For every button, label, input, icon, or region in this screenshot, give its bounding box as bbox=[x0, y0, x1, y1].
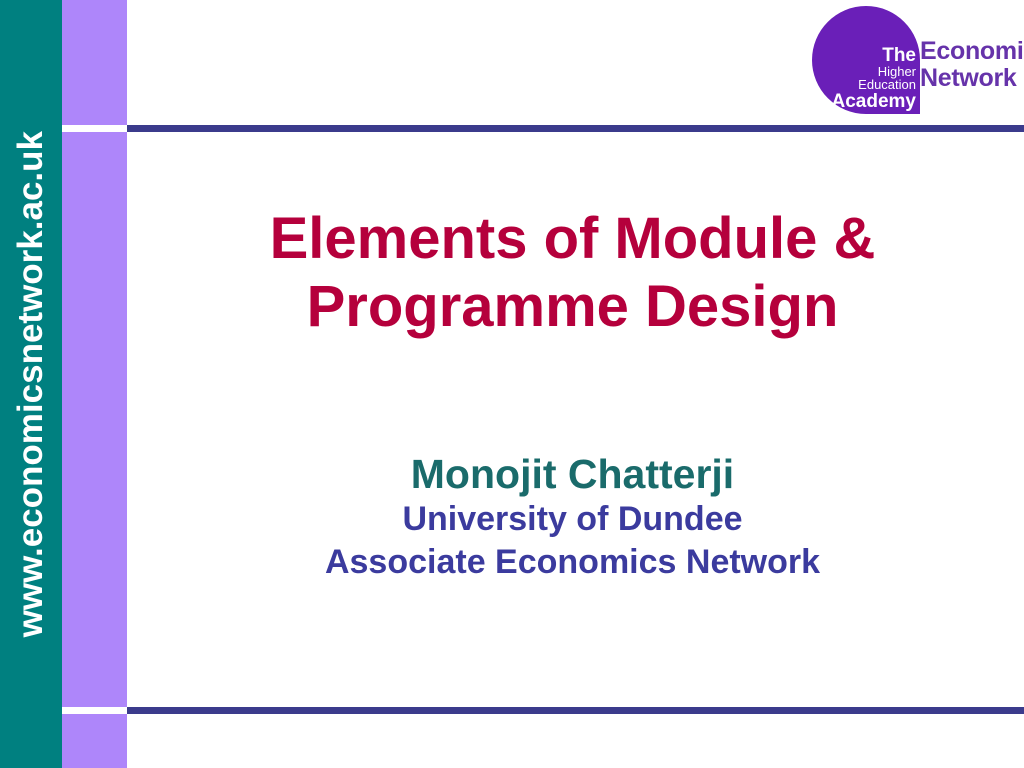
wordmark-line-economics: Economics bbox=[920, 38, 1024, 65]
hea-logo-line-academy: Academy bbox=[832, 92, 917, 111]
presentation-slide: www.economicsnetwork.ac.uk The Higher Ed… bbox=[0, 0, 1024, 768]
divider-rule-bottom bbox=[127, 707, 1024, 714]
presenter-name: Monojit Chatterji bbox=[150, 452, 995, 498]
presenter-block: Monojit Chatterji University of Dundee A… bbox=[150, 452, 995, 584]
divider-rule-top bbox=[127, 125, 1024, 132]
economics-network-wordmark: Economics Network bbox=[920, 38, 1024, 92]
slide-title-line-1: Elements of Module & bbox=[150, 205, 995, 273]
hea-economics-network-logo: The Higher Education Academy Economics N… bbox=[812, 6, 1018, 118]
hea-logo-line-higher: Higher bbox=[878, 65, 916, 78]
slide-title: Elements of Module & Programme Design bbox=[150, 205, 995, 342]
presenter-affiliation-role: Associate Economics Network bbox=[150, 541, 995, 584]
hea-logo-blob-text: The Higher Education Academy bbox=[812, 6, 916, 114]
slide-title-line-2: Programme Design bbox=[150, 273, 995, 341]
rule-notch-top bbox=[62, 125, 127, 132]
sidebar-teal-band bbox=[0, 0, 62, 768]
wordmark-line-network: Network bbox=[920, 65, 1024, 92]
hea-logo-line-education: Education bbox=[858, 78, 916, 91]
presenter-affiliation-institution: University of Dundee bbox=[150, 498, 995, 541]
sidebar-purple-band bbox=[62, 0, 127, 768]
hea-logo-line-the: The bbox=[882, 46, 916, 65]
rule-notch-bottom bbox=[62, 707, 127, 714]
